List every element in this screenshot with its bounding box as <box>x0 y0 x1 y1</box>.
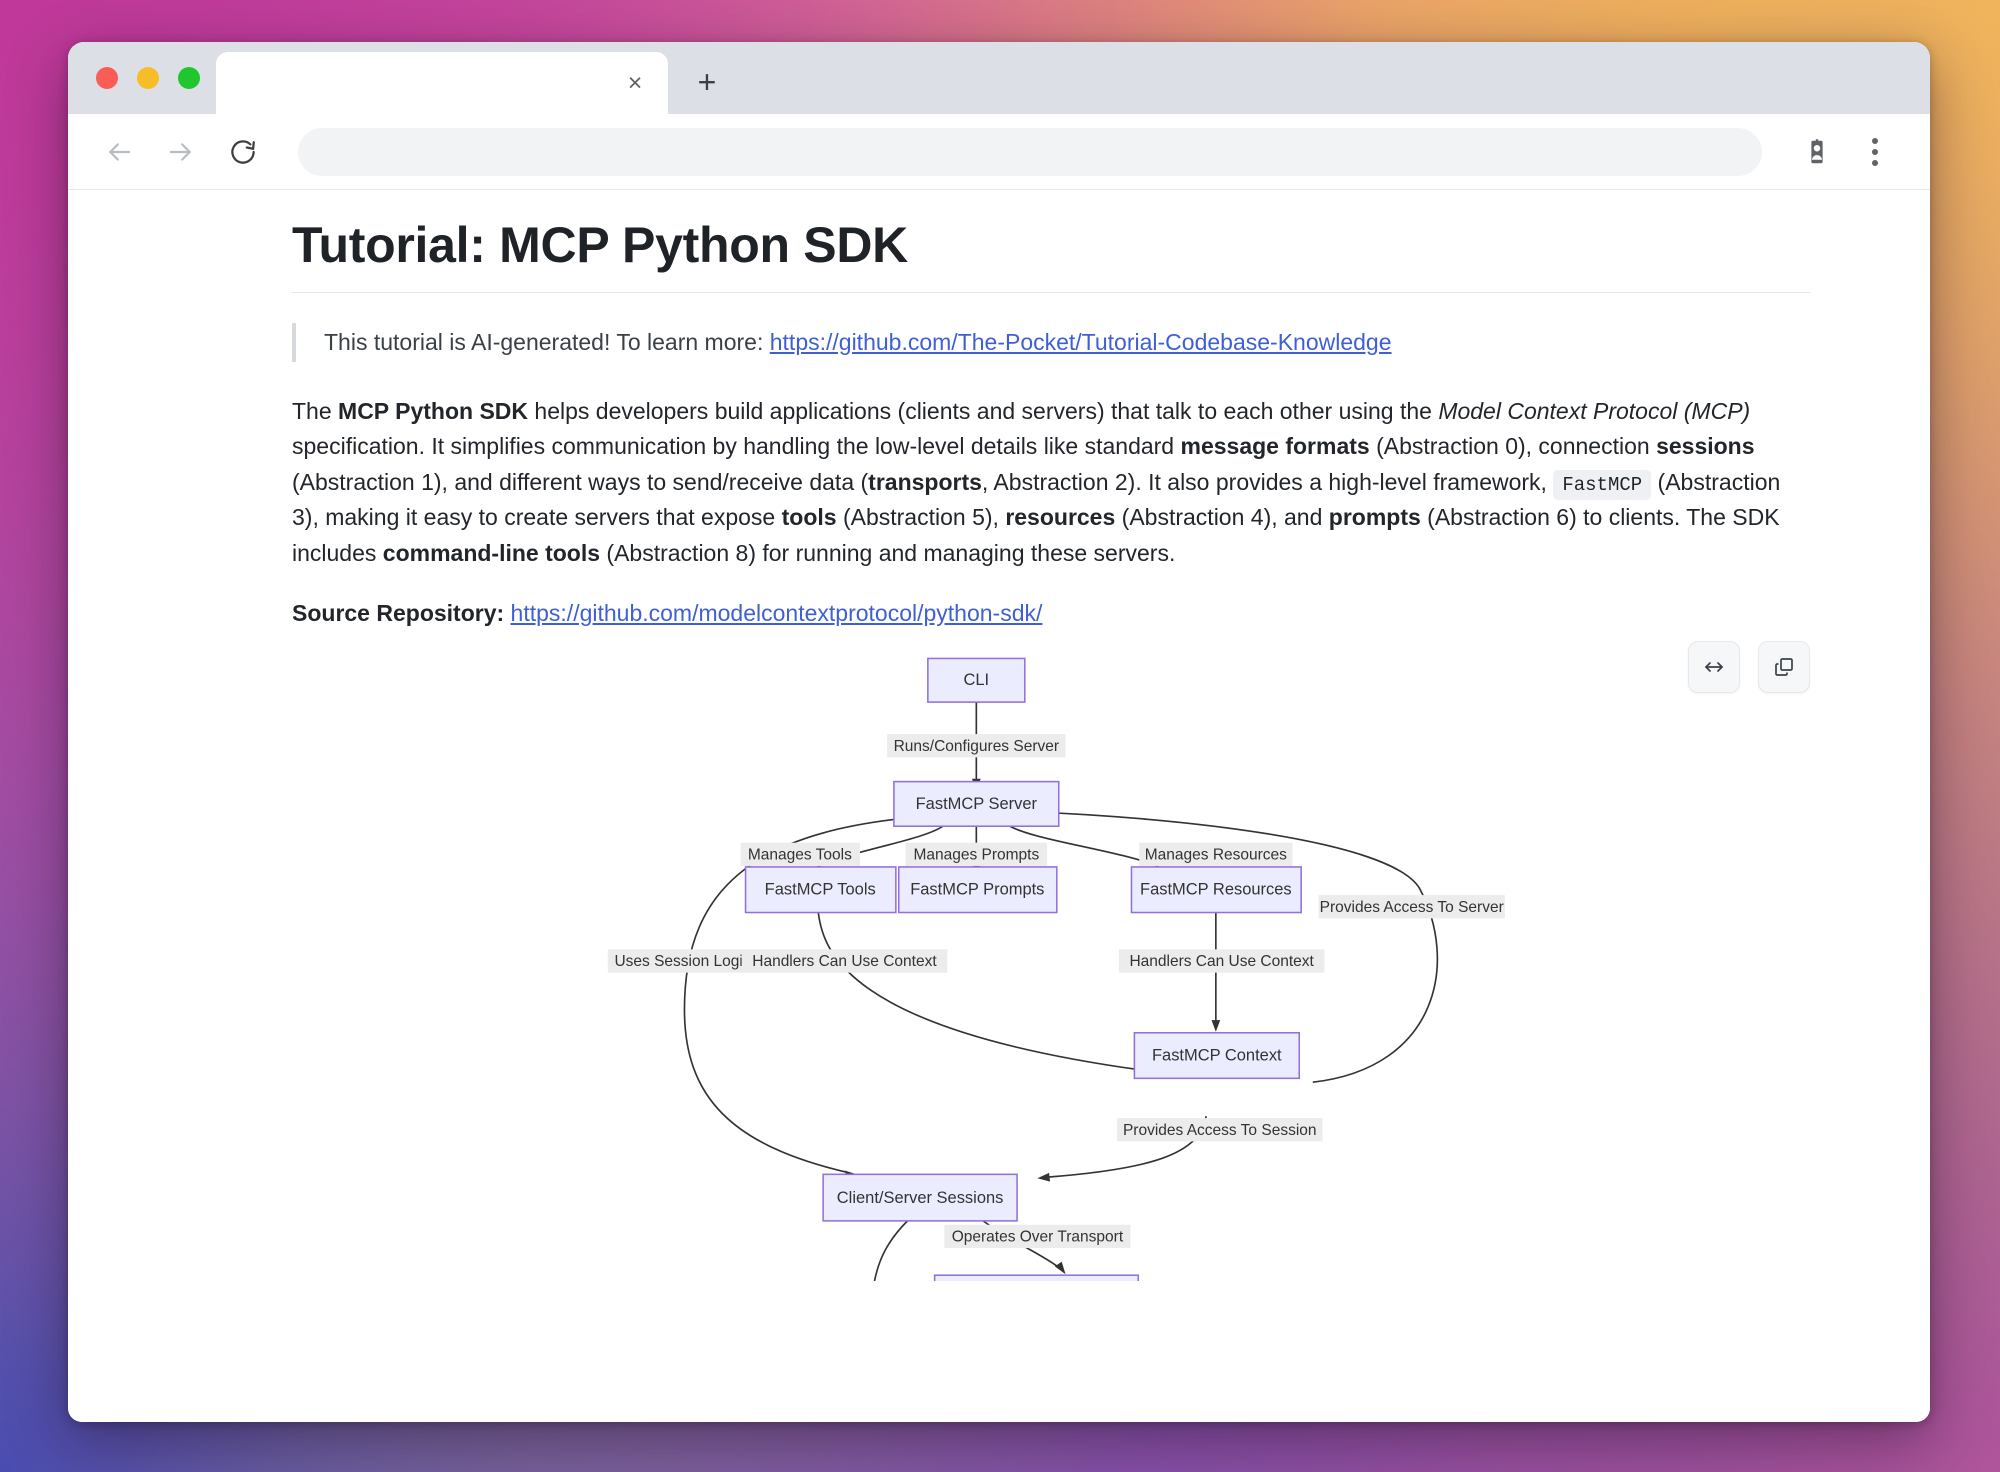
intro-bold-mcp-python-sdk: MCP Python SDK <box>338 398 528 424</box>
edge-label-manages-prompts: Manages Prompts <box>906 842 1048 865</box>
svg-text:Provides Access To Session: Provides Access To Session <box>1123 1121 1317 1138</box>
close-window-button[interactable] <box>96 67 118 89</box>
profile-badge-icon[interactable] <box>1792 127 1842 177</box>
diagram-node-fastmcp-server[interactable]: FastMCP Server <box>894 781 1059 826</box>
intro-italic-mcp: Model Context Protocol (MCP) <box>1438 398 1750 424</box>
diagram-node-transport[interactable] <box>935 1275 1139 1281</box>
ai-generated-notice: This tutorial is AI-generated! To learn … <box>292 323 1810 362</box>
diagram-canvas: CLI FastMCP Server FastMCP Tools FastMCP… <box>292 641 1810 1281</box>
edge-label-runs-configures-server: Runs/Configures Server <box>887 734 1065 757</box>
edge-label-manages-resources: Manages Resources <box>1139 842 1292 865</box>
forward-arrow-icon[interactable] <box>154 125 208 179</box>
intro-seg-2: helps developers build applications (cli… <box>528 398 1438 424</box>
intro-seg-3: specification. It simplifies communicati… <box>292 433 1181 459</box>
source-repository-line: Source Repository: https://github.com/mo… <box>292 600 1810 627</box>
svg-text:Client/Server Sessions: Client/Server Sessions <box>837 1189 1004 1207</box>
reload-icon[interactable] <box>216 125 270 179</box>
kebab-menu-icon[interactable] <box>1850 127 1900 177</box>
edge-label-handlers-can-use-context-right: Handlers Can Use Context <box>1119 949 1325 972</box>
architecture-diagram: CLI FastMCP Server FastMCP Tools FastMCP… <box>292 641 1810 1281</box>
browser-window: × + <box>68 42 1930 1422</box>
intro-bold-resources: resources <box>1005 504 1115 530</box>
edge-label-operates-over-transport: Operates Over Transport <box>944 1224 1130 1247</box>
horizontal-resize-icon[interactable] <box>1688 641 1740 693</box>
edge-label-provides-access-to-server: Provides Access To Server <box>1319 895 1505 918</box>
minimize-window-button[interactable] <box>137 67 159 89</box>
page-title: Tutorial: MCP Python SDK <box>292 216 1810 293</box>
svg-text:Handlers Can Use Context: Handlers Can Use Context <box>1129 953 1314 970</box>
svg-text:Manages Tools: Manages Tools <box>748 846 852 863</box>
new-tab-button[interactable]: + <box>684 59 730 105</box>
notice-text: This tutorial is AI-generated! To learn … <box>324 329 770 355</box>
source-repository-label: Source Repository: <box>292 600 511 626</box>
intro-seg-11: (Abstraction 8) for running and managing… <box>600 540 1175 566</box>
intro-seg-6: , Abstraction 2). It also provides a hig… <box>982 469 1553 495</box>
svg-text:Manages Prompts: Manages Prompts <box>913 846 1039 863</box>
edge-label-provides-access-to-session: Provides Access To Session <box>1117 1118 1323 1141</box>
address-bar[interactable] <box>298 128 1762 176</box>
svg-text:Operates Over Transport: Operates Over Transport <box>952 1228 1124 1245</box>
intro-bold-sessions: sessions <box>1656 433 1754 459</box>
back-arrow-icon[interactable] <box>92 125 146 179</box>
edge-label-handlers-can-use-context-left: Handlers Can Use Context <box>742 949 948 972</box>
svg-text:FastMCP Context: FastMCP Context <box>1152 1046 1282 1064</box>
traffic-lights <box>86 42 216 114</box>
intro-seg-5: (Abstraction 1), and different ways to s… <box>292 469 868 495</box>
intro-bold-command-line-tools: command-line tools <box>383 540 600 566</box>
svg-text:FastMCP Tools: FastMCP Tools <box>765 880 876 898</box>
svg-text:CLI: CLI <box>964 671 990 689</box>
edge-sessions-other <box>875 1221 908 1281</box>
svg-text:FastMCP Prompts: FastMCP Prompts <box>910 880 1044 898</box>
page-content: Tutorial: MCP Python SDK This tutorial i… <box>68 190 1930 1422</box>
intro-code-fastmcp: FastMCP <box>1553 470 1651 500</box>
intro-bold-transports: transports <box>868 469 982 495</box>
edge-label-manages-tools: Manages Tools <box>741 842 860 865</box>
maximize-window-button[interactable] <box>178 67 200 89</box>
svg-text:Handlers Can Use Context: Handlers Can Use Context <box>752 953 937 970</box>
intro-bold-prompts: prompts <box>1329 504 1421 530</box>
diagram-node-cli[interactable]: CLI <box>928 658 1025 702</box>
page-viewport: Tutorial: MCP Python SDK This tutorial i… <box>68 190 1930 1422</box>
diagram-node-fastmcp-tools[interactable]: FastMCP Tools <box>746 867 896 913</box>
svg-text:FastMCP Server: FastMCP Server <box>916 795 1038 813</box>
diagram-node-fastmcp-prompts[interactable]: FastMCP Prompts <box>899 867 1057 913</box>
svg-text:Provides Access To Server: Provides Access To Server <box>1320 898 1504 915</box>
diagram-node-fastmcp-resources[interactable]: FastMCP Resources <box>1131 867 1301 913</box>
diagram-toolbar <box>1688 641 1810 693</box>
tab-strip: × + <box>68 42 1930 114</box>
svg-text:Manages Resources: Manages Resources <box>1145 846 1287 863</box>
edge-label-uses-session-logic: Uses Session Logic <box>608 949 758 972</box>
browser-toolbar <box>68 114 1930 190</box>
edge-tools-context <box>818 912 1138 1069</box>
diagram-node-fastmcp-context[interactable]: FastMCP Context <box>1134 1032 1299 1078</box>
source-repository-link[interactable]: https://github.com/modelcontextprotocol/… <box>511 600 1043 626</box>
intro-seg-4: (Abstraction 0), connection <box>1370 433 1656 459</box>
svg-text:Uses Session Logic: Uses Session Logic <box>614 953 750 970</box>
browser-tab[interactable]: × <box>216 52 668 114</box>
intro-bold-tools: tools <box>782 504 837 530</box>
tutorial-knowledge-link[interactable]: https://github.com/The-Pocket/Tutorial-C… <box>770 329 1392 355</box>
copy-icon[interactable] <box>1758 641 1810 693</box>
intro-seg-9: (Abstraction 4), and <box>1115 504 1329 530</box>
intro-paragraph: The MCP Python SDK helps developers buil… <box>292 394 1810 572</box>
svg-text:Runs/Configures Server: Runs/Configures Server <box>894 737 1059 754</box>
svg-text:FastMCP Resources: FastMCP Resources <box>1140 880 1292 898</box>
intro-seg-1: The <box>292 398 338 424</box>
diagram-node-client-server-sessions[interactable]: Client/Server Sessions <box>823 1174 1017 1221</box>
intro-bold-message-formats: message formats <box>1181 433 1370 459</box>
intro-seg-8: (Abstraction 5), <box>837 504 1006 530</box>
close-tab-icon[interactable]: × <box>618 66 652 100</box>
